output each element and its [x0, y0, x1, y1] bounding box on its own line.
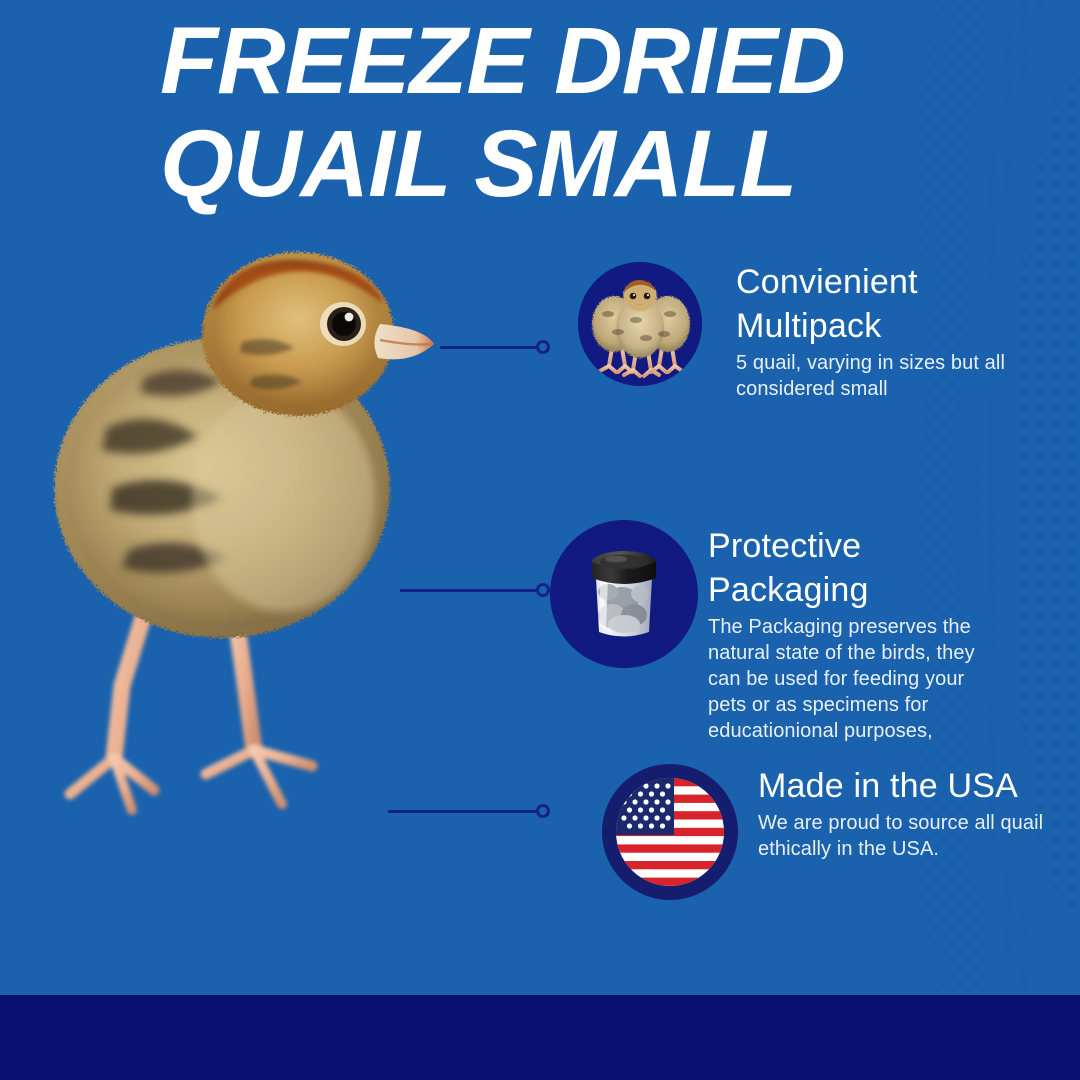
- connector-2-node: [536, 583, 550, 597]
- infographic-page: FREEZE DRIED QUAIL SMALL: [0, 0, 1080, 1080]
- bottom-bar: [0, 995, 1080, 1080]
- feature-multipack: Convienient Multipack 5 quail, varying i…: [578, 262, 1048, 422]
- feature-made-in-usa-text: Made in the USA We are proud to source a…: [758, 764, 1058, 862]
- feature-multipack-heading-1: Convienient: [736, 260, 1036, 304]
- quail-chick-photo: [36, 238, 456, 846]
- feature-made-in-usa-heading-1: Made in the USA: [758, 764, 1058, 808]
- title-line-2: QUAIL SMALL: [160, 113, 1040, 216]
- feature-packaging-body: The Packaging preserves the natural stat…: [708, 614, 1008, 744]
- usa-flag-circle-icon: [600, 762, 740, 902]
- feature-multipack-text: Convienient Multipack 5 quail, varying i…: [736, 260, 1036, 402]
- feature-packaging-heading-1: Protective: [708, 524, 1008, 568]
- connector-line-1: [440, 340, 558, 354]
- feature-made-in-usa-body: We are proud to source all quail ethical…: [758, 810, 1058, 862]
- connector-3-node: [536, 804, 550, 818]
- feature-multipack-heading-2: Multipack: [736, 304, 1036, 348]
- connector-1-node: [536, 340, 550, 354]
- feature-made-in-usa: Made in the USA We are proud to source a…: [600, 762, 1040, 902]
- feature-packaging: Protective Packaging The Packaging prese…: [550, 520, 1030, 745]
- feature-packaging-text: Protective Packaging The Packaging prese…: [708, 524, 1008, 744]
- three-quail-chicks-icon: [578, 262, 702, 386]
- feature-packaging-heading-2: Packaging: [708, 568, 1008, 612]
- title-line-1: FREEZE DRIED: [160, 10, 1040, 113]
- jar-with-black-lid-icon: [550, 520, 698, 668]
- page-title: FREEZE DRIED QUAIL SMALL: [160, 10, 1040, 216]
- feature-multipack-body: 5 quail, varying in sizes but all consid…: [736, 350, 1036, 402]
